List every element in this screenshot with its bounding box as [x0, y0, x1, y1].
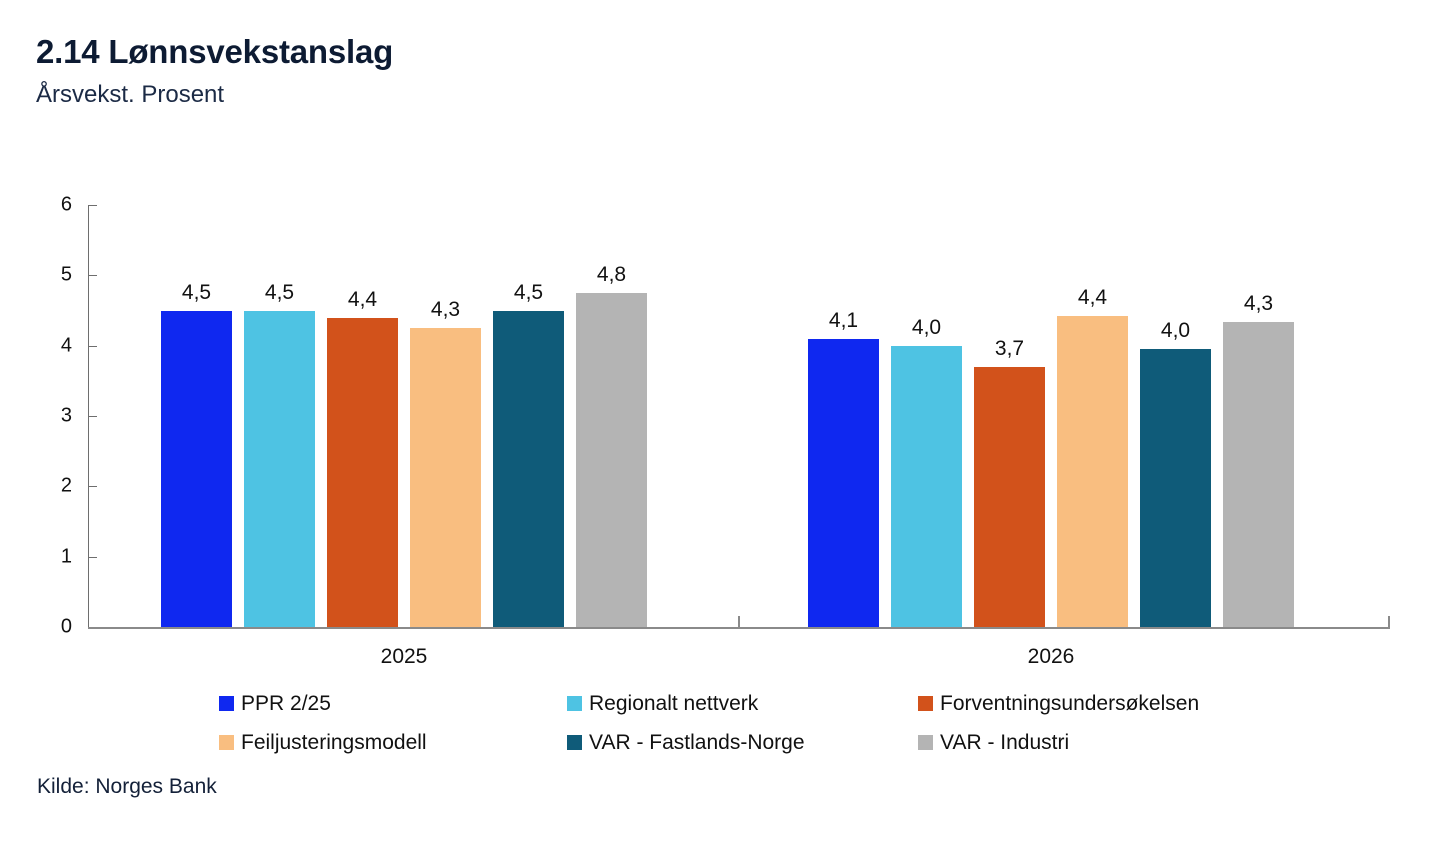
x-axis-line	[88, 627, 1390, 629]
legend-row: PPR 2/25Regionalt nettverkForventningsun…	[219, 686, 1319, 725]
legend-item-label: Regionalt nettverk	[589, 693, 758, 714]
legend-item-label: PPR 2/25	[241, 693, 331, 714]
y-axis-tick-label: 1	[32, 545, 72, 568]
legend-item[interactable]: VAR - Fastlands-Norge	[567, 728, 805, 756]
legend-item-label: Feiljusteringsmodell	[241, 732, 427, 753]
legend-item[interactable]: Forventningsundersøkelsen	[918, 689, 1199, 717]
y-axis-tick-label: 4	[32, 334, 72, 357]
y-axis-tick-mark	[89, 416, 97, 417]
bar	[161, 311, 232, 628]
bar-value-label: 4,0	[1161, 319, 1190, 343]
bar	[1223, 322, 1294, 627]
bar-value-label: 4,0	[912, 316, 941, 340]
bar-value-label: 4,8	[597, 263, 626, 287]
y-axis-tick-mark	[89, 486, 97, 487]
x-axis-group-separator-tick	[738, 616, 740, 627]
legend-item[interactable]: VAR - Industri	[918, 728, 1069, 756]
bar-value-label: 4,4	[1078, 286, 1107, 310]
legend-item[interactable]: Feiljusteringsmodell	[219, 728, 427, 756]
source-note: Kilde: Norges Bank	[37, 775, 217, 799]
bar-value-label: 4,5	[182, 281, 211, 305]
bar	[493, 311, 564, 628]
bar	[244, 311, 315, 628]
legend-item[interactable]: PPR 2/25	[219, 689, 331, 717]
bar	[808, 339, 879, 627]
y-axis-tick-mark	[89, 557, 97, 558]
legend-item[interactable]: Regionalt nettverk	[567, 689, 758, 717]
bar	[891, 346, 962, 627]
legend-color-swatch-icon	[567, 735, 582, 750]
x-axis-group-label: 2026	[1028, 645, 1075, 669]
bar-value-label: 4,1	[829, 309, 858, 333]
legend-color-swatch-icon	[219, 735, 234, 750]
y-axis-tick-mark	[89, 346, 97, 347]
chart-legend: PPR 2/25Regionalt nettverkForventningsun…	[219, 686, 1319, 764]
bar	[1057, 316, 1128, 627]
y-axis-tick-label: 5	[32, 264, 72, 287]
y-axis-tick-mark	[89, 205, 97, 206]
legend-item-label: VAR - Industri	[940, 732, 1069, 753]
legend-item-label: Forventningsundersøkelsen	[940, 693, 1199, 714]
legend-row: FeiljusteringsmodellVAR - Fastlands-Norg…	[219, 725, 1319, 764]
legend-color-swatch-icon	[918, 735, 933, 750]
x-axis-group-label: 2025	[381, 645, 428, 669]
y-axis-tick-label: 2	[32, 475, 72, 498]
bar	[974, 367, 1045, 627]
bar-chart-plot: 0123456 4,54,54,44,34,54,84,14,03,74,44,…	[0, 0, 1445, 700]
bar	[1140, 349, 1211, 627]
y-axis-tick-label: 0	[32, 616, 72, 639]
bar-value-label: 4,5	[514, 281, 543, 305]
bar	[410, 328, 481, 627]
x-axis-end-tick	[1388, 616, 1390, 627]
bar-value-label: 4,3	[1244, 292, 1273, 316]
bar-value-label: 4,4	[348, 288, 377, 312]
bar-value-label: 4,5	[265, 281, 294, 305]
y-axis-tick-mark	[89, 275, 97, 276]
legend-color-swatch-icon	[567, 696, 582, 711]
y-axis-tick-label: 3	[32, 405, 72, 428]
bar	[576, 293, 647, 627]
legend-color-swatch-icon	[918, 696, 933, 711]
bar-value-label: 3,7	[995, 337, 1024, 361]
y-axis-tick-label: 6	[32, 194, 72, 217]
bar-value-label: 4,3	[431, 298, 460, 322]
legend-item-label: VAR - Fastlands-Norge	[589, 732, 805, 753]
bar	[327, 318, 398, 627]
legend-color-swatch-icon	[219, 696, 234, 711]
